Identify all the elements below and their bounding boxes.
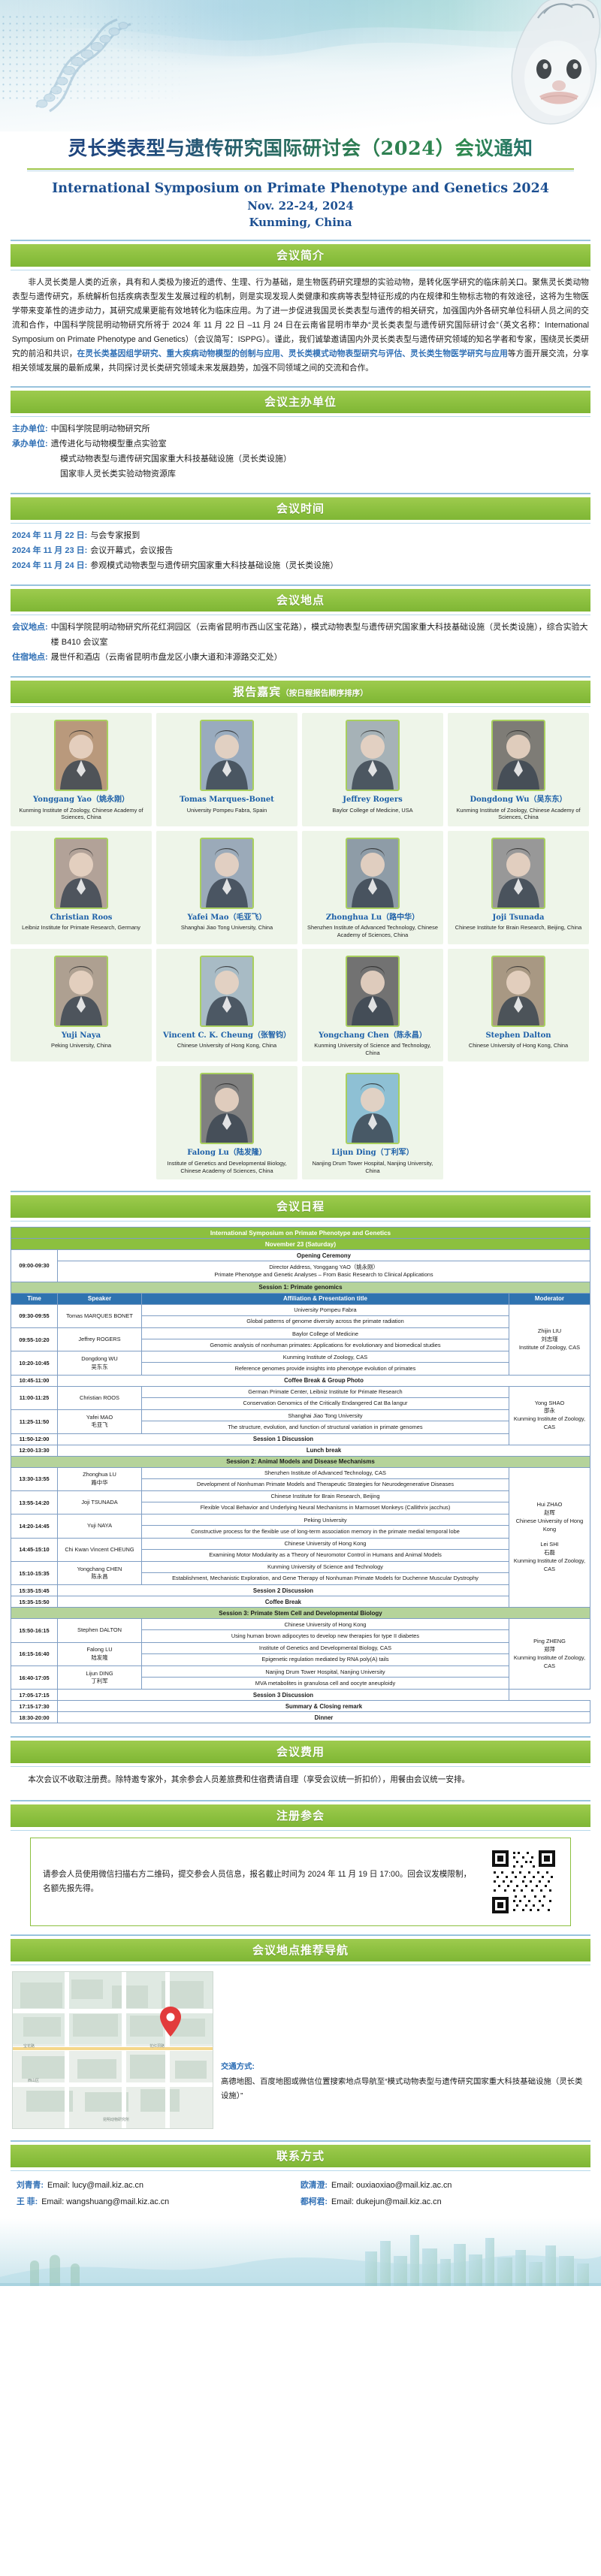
section-title-contact: 联系方式 — [11, 2145, 590, 2167]
row-speaker: Yuji NAYA — [58, 1514, 142, 1538]
venue-place-value: 中国科学院昆明动物研究所花红洞园区（云南省昆明市西山区宝花路），模式动物表型与遗… — [51, 620, 589, 650]
section-organizers-header: 会议主办单位 — [0, 386, 601, 417]
row-affiliation: Chinese University of Hong Kong — [142, 1538, 509, 1549]
speaker-photo — [54, 720, 108, 791]
conference-city: Kunming, China — [17, 215, 584, 231]
venue-hotel-row: 住宿地点: 晟世仟和酒店（云南省昆明市盘龙区小康大道和沣源路交汇处） — [12, 650, 589, 665]
traffic-label: 交通方式: — [221, 2063, 255, 2071]
agenda-break-row: 18:30-20:00 Dinner — [11, 1712, 590, 1723]
break-time: 12:00-13:30 — [11, 1445, 58, 1456]
section-title-organizers: 会议主办单位 — [11, 391, 590, 413]
row-presentation: Establishment, Mechanistic Exploration, … — [142, 1572, 509, 1584]
co-organizer-row: 承办单位: 遗传进化与动物模型重点实验室 — [12, 436, 589, 451]
speaker-name-cn: 毛亚飞 — [60, 1421, 139, 1429]
speaker-photo — [200, 838, 254, 909]
row-presentation: Global patterns of genome diversity acro… — [142, 1315, 509, 1327]
opening-detail: Director Address, Yonggang YAO（姚永刚） Prim… — [58, 1261, 590, 1282]
row-presentation: Using human brown adipocytes to develop … — [142, 1630, 509, 1642]
session2-label: Session 2: Animal Models and Disease Mec… — [11, 1456, 590, 1467]
break-label: Session 1 Discussion — [58, 1433, 509, 1445]
speaker-photo — [346, 1073, 400, 1144]
agenda-day-row: November 23 (Saturday) — [11, 1239, 590, 1250]
section-contact-header: 联系方式 — [0, 2140, 601, 2171]
row-moderator: Yong SHAO 邵永 Kunming Institute of Zoolog… — [509, 1386, 590, 1445]
speaker-name-cn: 陆发隆 — [60, 1654, 139, 1662]
venue-place-row: 会议地点: 中国科学院昆明动物研究所花红洞园区（云南省昆明市西山区宝花路），模式… — [12, 620, 589, 650]
agenda-table-wrap: International Symposium on Primate Pheno… — [0, 1222, 601, 1728]
section-fees-header: 会议费用 — [0, 1736, 601, 1767]
city-skyline-illustration — [0, 2218, 601, 2286]
section-title-map: 会议地点推荐导航 — [11, 1939, 590, 1961]
speaker-photo — [346, 956, 400, 1027]
speaker-affiliation: Kunming University of Science and Techno… — [306, 1042, 439, 1056]
venue-place-label: 会议地点: — [12, 620, 48, 635]
row-moderator: Ping ZHENG 郑萍 Kunming Institute of Zoolo… — [509, 1619, 590, 1690]
time-desc-1: 与会专家报到 — [90, 528, 589, 543]
contact-person: 刘青青: Email: lucy@mail.kiz.ac.cn — [17, 2178, 300, 2194]
row-affiliation: Peking University — [142, 1514, 509, 1526]
row-speaker: Yongchang CHEN 陈永昌 — [58, 1561, 142, 1584]
section-intro-header: 会议简介 — [0, 240, 601, 270]
contact-row: 刘青青: Email: lucy@mail.kiz.ac.cn 欧清澄: Ema… — [17, 2178, 584, 2194]
moderator-name-cn: 郑萍 — [512, 1646, 587, 1654]
row-affiliation: University Pompeu Fabra — [142, 1304, 509, 1315]
time-row: 2024 年 11 月 23 日: 会议开幕式，会议报告 — [12, 543, 589, 558]
time-date-1: 2024 年 11 月 22 日: — [12, 528, 87, 543]
agenda-break-row: 11:50-12:00 Session 1 Discussion — [11, 1433, 590, 1445]
speaker-card: Yafei Mao（毛亚飞）Shanghai Jiao Tong Univers… — [156, 831, 297, 944]
contact-row: 王 菲: Email: wangshuang@mail.kiz.ac.cn 都柯… — [17, 2194, 584, 2211]
speaker-photo — [491, 838, 545, 909]
row-affiliation: Chinese Institute for Brain Research, Be… — [142, 1490, 509, 1502]
section-map-header: 会议地点推荐导航 — [0, 1934, 601, 1965]
venue-hotel-label: 住宿地点: — [12, 650, 48, 665]
hero-banner — [0, 0, 601, 131]
co-organizer-value-1: 遗传进化与动物模型重点实验室 — [51, 436, 589, 451]
speaker-affiliation: Shanghai Jiao Tong University, China — [180, 924, 274, 932]
row-time: 09:55-10:20 — [11, 1328, 58, 1351]
conference-dates: Nov. 22-24, 2024 — [17, 198, 584, 215]
section-speakers-header: 报告嘉宾（按日程报告顺序排序） — [0, 676, 601, 707]
speaker-photo — [54, 838, 108, 909]
host-label: 主办单位: — [12, 421, 48, 436]
section-title-fees: 会议费用 — [11, 1741, 590, 1763]
intro-paragraph: 非人灵长类是人类的近亲，具有和人类极为接近的遗传、生理、行为基础，是生物医药研究… — [12, 278, 589, 358]
row-time: 15:10-15:35 — [11, 1561, 58, 1584]
agenda-break-row: 10:45-11:00 Coffee Break & Group Photo — [11, 1375, 590, 1386]
break-time: 10:45-11:00 — [11, 1375, 58, 1386]
speaker-name: Jeffrey Rogers — [343, 796, 402, 805]
contact-body: 刘青青: Email: lucy@mail.kiz.ac.cn 欧清澄: Ema… — [0, 2171, 601, 2218]
break-label: Coffee Break & Group Photo — [58, 1375, 590, 1386]
traffic-text: 高德地图、百度地图或微信位置搜索地点导航至“模式动物表型与遗传研究国家重大科技基… — [221, 2075, 589, 2104]
section-title-speakers: 报告嘉宾（按日程报告顺序排序） — [11, 681, 590, 703]
break-label: Session 3 Discussion — [58, 1690, 509, 1701]
row-time: 10:20-10:45 — [11, 1351, 58, 1375]
fees-body: 本次会议不收取注册费。除特邀专家外，其余参会人员差旅费和住宿费请自理（享受会议统… — [0, 1767, 601, 1792]
row-presentation: Constructive process for the flexible us… — [142, 1526, 509, 1538]
row-affiliation: Kunming University of Science and Techno… — [142, 1561, 509, 1572]
break-time: 18:30-20:00 — [11, 1712, 58, 1723]
moderator-affiliation: Chinese University of Hong Kong — [512, 1518, 587, 1533]
svg-text:西山区: 西山区 — [28, 2078, 39, 2083]
speaker-card: Dongdong Wu（吴东东）Kunming Institute of Zoo… — [448, 713, 589, 826]
row-presentation: Conservation Genomics of the Critically … — [142, 1397, 509, 1409]
footer-decoration — [0, 2218, 601, 2286]
time-row: 2024 年 11 月 24 日: 参观模式动物表型与遗传研究国家重大科技基础设… — [12, 558, 589, 573]
agenda-column-header: Time Speaker Affiliation & Presentation … — [11, 1293, 590, 1304]
speaker-name: Tomas Marques-Bonet — [180, 796, 274, 805]
speaker-photo — [346, 720, 400, 791]
contact-person: 欧清澄: Email: ouxiaoxiao@mail.kiz.ac.cn — [300, 2178, 584, 2194]
svg-text:宝花路: 宝花路 — [23, 2043, 35, 2049]
table-row: 13:30-13:55 Zhonghua LU 路中华 Shenzhen Ins… — [11, 1467, 590, 1478]
contact-name-2: 欧清澄: — [300, 2178, 328, 2194]
dna-helix-icon — [21, 15, 149, 114]
speaker-name: Christian Roos — [50, 914, 113, 923]
section-time-header: 会议时间 — [0, 493, 601, 524]
contact-email-3[interactable]: Email: wangshuang@mail.kiz.ac.cn — [41, 2194, 169, 2211]
speaker-card: Falong Lu（陆发隆）Institute of Genetics and … — [156, 1066, 297, 1179]
speaker-photo — [200, 956, 254, 1027]
row-speaker: Stephen DALTON — [58, 1619, 142, 1642]
speakers-title-main: 报告嘉宾 — [233, 685, 281, 699]
speaker-grid: Yonggang Yao（姚永刚）Kunming Institute of Zo… — [0, 707, 601, 1182]
row-affiliation: Institute of Genetics and Developmental … — [142, 1642, 509, 1653]
row-speaker: Joji TSUNADA — [58, 1490, 142, 1514]
moderator2-name-en: Lei SHI — [512, 1541, 587, 1549]
registration-text: 请参会人员使用微信扫描右方二维码，提交参会人员信息，报名截止时间为 2024 年… — [43, 1868, 479, 1897]
speaker-photo — [200, 1073, 254, 1144]
venue-body: 会议地点: 中国科学院昆明动物研究所花红洞园区（云南省昆明市西山区宝花路），模式… — [0, 615, 601, 668]
row-speaker: Chi Kwan Vincent CHEUNG — [58, 1538, 142, 1561]
map-navigation-note: 交通方式: 高德地图、百度地图或微信位置搜索地点导航至“模式动物表型与遗传研究国… — [221, 1971, 589, 2103]
section-title-intro: 会议简介 — [11, 244, 590, 267]
section-agenda-header: 会议日程 — [0, 1191, 601, 1222]
speaker-card: Vincent C. K. Cheung（张智钧）Chinese Univers… — [156, 949, 297, 1062]
row-time: 13:55-14:20 — [11, 1490, 58, 1514]
break-label: Session 2 Discussion — [58, 1585, 509, 1596]
speaker-name: Yuji Naya — [62, 1031, 101, 1041]
table-row: 15:10-15:35 Yongchang CHEN 陈永昌 Kunming U… — [11, 1561, 590, 1572]
row-presentation: Genomic analysis of nonhuman primates: A… — [142, 1339, 509, 1351]
svg-text:花红洞路: 花红洞路 — [149, 2043, 165, 2049]
section-title-agenda: 会议日程 — [11, 1195, 590, 1218]
moderator-name-cn: 刘志瑾 — [512, 1336, 587, 1344]
speaker-affiliation: Kunming Institute of Zoology, Chinese Ac… — [14, 807, 148, 821]
session1-label: Session 1: Primate genomics — [11, 1282, 590, 1293]
speaker-affiliation: Peking University, China — [50, 1042, 113, 1049]
opening-line-1: Director Address, Yonggang YAO（姚永刚） — [60, 1264, 587, 1272]
session3-label: Session 3: Primate Stem Cell and Develop… — [11, 1608, 590, 1619]
agenda-opening-row: 09:00-09:30 Opening Ceremony — [11, 1250, 590, 1261]
break-time: 15:35-15:50 — [11, 1596, 58, 1608]
host-value: 中国科学院昆明动物研究所 — [51, 421, 589, 436]
agenda-symposium-title: International Symposium on Primate Pheno… — [11, 1228, 590, 1239]
break-label: Summary & Closing remark — [58, 1701, 590, 1712]
host-row: 主办单位: 中国科学院昆明动物研究所 — [12, 421, 589, 436]
speaker-name-cn: 丁利军 — [60, 1678, 139, 1685]
speaker-card: Yuji NayaPeking University, China — [11, 949, 152, 1062]
break-time: 17:05-17:15 — [11, 1690, 58, 1701]
speaker-name: Zhonghua Lu（路中华） — [326, 914, 419, 923]
row-presentation: MVA metabolites in granulosa cell and oo… — [142, 1678, 509, 1690]
speaker-name: Joji Tsunada — [493, 914, 545, 923]
agenda-break-row: 17:15-17:30 Summary & Closing remark — [11, 1701, 590, 1712]
speaker-affiliation: Chinese Institute for Brain Research, Be… — [454, 924, 583, 932]
agenda-session2-row: Session 2: Animal Models and Disease Mec… — [11, 1456, 590, 1467]
speaker-card: Lijun Ding（丁利军）Nanjing Drum Tower Hospit… — [302, 1066, 443, 1179]
contact-person: 都柯君: Email: dukejun@mail.kiz.ac.cn — [300, 2194, 584, 2211]
speaker-affiliation: Nanjing Drum Tower Hospital, Nanjing Uni… — [306, 1160, 439, 1174]
speaker-name-cn: 吴东东 — [60, 1363, 139, 1371]
speaker-affiliation: Kunming Institute of Zoology, Chinese Ac… — [452, 807, 585, 821]
agenda-day-title: November 23 (Saturday) — [11, 1239, 590, 1250]
break-label: Dinner — [58, 1712, 590, 1723]
contact-name-3: 王 菲: — [17, 2194, 38, 2211]
row-time: 14:45-15:10 — [11, 1538, 58, 1561]
moderator2-name-cn: 石磊 — [512, 1549, 587, 1557]
moderator-name-en: Ping ZHENG — [512, 1638, 587, 1646]
row-affiliation: Shenzhen Institute of Advanced Technolog… — [142, 1467, 509, 1478]
contact-name-1: 刘青青: — [17, 2178, 44, 2194]
agenda-break-row: 15:35-15:45 Session 2 Discussion — [11, 1585, 590, 1596]
table-row: 11:00-11:25 Christian ROOS German Primat… — [11, 1386, 590, 1397]
speaker-name: Stephen Dalton — [485, 1031, 551, 1041]
registration-qr-code[interactable] — [489, 1847, 558, 1916]
intro-body: 非人灵长类是人类的近亲，具有和人类极为接近的遗传、生理、行为基础，是生物医药研究… — [0, 270, 601, 378]
row-speaker: Lijun DING 丁利军 — [58, 1666, 142, 1690]
col-moderator: Moderator — [509, 1293, 590, 1304]
row-time: 16:40-17:05 — [11, 1666, 58, 1690]
section-venue-header: 会议地点 — [0, 584, 601, 615]
speaker-photo — [200, 720, 254, 791]
speaker-name: Vincent C. K. Cheung（张智钧） — [163, 1031, 291, 1041]
co-organizer-value-3: 国家非人灵长类实验动物资源库 — [12, 467, 589, 482]
table-row: 11:25-11:50 Yafei MAO 毛亚飞 Shanghai Jiao … — [11, 1410, 590, 1421]
speaker-photo — [54, 956, 108, 1027]
row-moderator: Hui ZHAO 赵晖 Chinese University of Hong K… — [509, 1467, 590, 1608]
row-presentation: Reference genomes provide insights into … — [142, 1363, 509, 1375]
table-row: 09:30-09:55 Tomas MARQUES BONET Universi… — [11, 1304, 590, 1315]
contact-email-2[interactable]: Email: ouxiaoxiao@mail.kiz.ac.cn — [331, 2178, 452, 2194]
speaker-affiliation: Chinese University of Hong Kong, China — [467, 1042, 569, 1049]
moderator-name-cn: 邵永 — [512, 1407, 587, 1415]
row-presentation: Examining Motor Modularity as a Theory o… — [142, 1549, 509, 1561]
break-time: 11:50-12:00 — [11, 1433, 58, 1445]
speaker-name-en: Yafei MAO — [60, 1414, 139, 1421]
speaker-card: Stephen DaltonChinese University of Hong… — [448, 949, 589, 1062]
break-label: Coffee Break — [58, 1596, 509, 1608]
table-row: 16:15-16:40 Falong LU 陆发隆 Institute of G… — [11, 1642, 590, 1653]
speaker-card: Yonggang Yao（姚永刚）Kunming Institute of Zo… — [11, 713, 152, 826]
speaker-card: Christian RoosLeibniz Institute for Prim… — [11, 831, 152, 944]
row-time: 14:20-14:45 — [11, 1514, 58, 1538]
break-label: Lunch break — [58, 1445, 590, 1456]
venue-hotel-value: 晟世仟和酒店（云南省昆明市盘龙区小康大道和沣源路交汇处） — [51, 650, 589, 665]
row-presentation: Development of Nonhuman Primate Models a… — [142, 1478, 509, 1490]
table-row: 13:55-14:20 Joji TSUNADA Chinese Institu… — [11, 1490, 590, 1502]
time-desc-2: 会议开幕式，会议报告 — [90, 543, 589, 558]
agenda-break-row: 12:00-13:30 Lunch break — [11, 1445, 590, 1456]
speaker-affiliation: Leibniz Institute for Primate Research, … — [20, 924, 142, 932]
section-title-time: 会议时间 — [11, 497, 590, 520]
speakers-title-sub: （按日程报告顺序排序） — [281, 689, 368, 698]
speaker-name-cn: 路中华 — [60, 1479, 139, 1487]
agenda-break-row: 17:05-17:15 Session 3 Discussion — [11, 1690, 590, 1701]
golden-monkey-illustration — [448, 0, 601, 131]
moderator-name-en: Yong SHAO — [512, 1400, 587, 1408]
speaker-photo — [491, 956, 545, 1027]
opening-title: Opening Ceremony — [58, 1250, 590, 1261]
agenda-session3-row: Session 3: Primate Stem Cell and Develop… — [11, 1608, 590, 1619]
opening-time: 09:00-09:30 — [11, 1250, 58, 1282]
section-title-venue: 会议地点 — [11, 589, 590, 612]
section-title-register: 注册参会 — [11, 1804, 590, 1827]
title-block: 灵长类表型与遗传研究国际研讨会（2024）会议通知 International … — [0, 131, 601, 231]
agenda-symposium-row: International Symposium on Primate Pheno… — [11, 1228, 590, 1239]
speaker-card: Jeffrey RogersBaylor College of Medicine… — [302, 713, 443, 826]
row-time: 09:30-09:55 — [11, 1304, 58, 1327]
moderator-affiliation: Kunming Institute of Zoology, CAS — [512, 1654, 587, 1670]
title-divider — [27, 168, 574, 171]
moderator-affiliation: Kunming Institute of Zoology, CAS — [512, 1415, 587, 1431]
row-time: 15:50-16:15 — [11, 1619, 58, 1642]
row-presentation: Flexible Vocal Behavior and Underlying N… — [142, 1502, 509, 1514]
speaker-affiliation: Shenzhen Institute of Advanced Technolog… — [306, 924, 439, 938]
table-row: 14:20-14:45 Yuji NAYA Peking University — [11, 1514, 590, 1526]
row-time: 11:25-11:50 — [11, 1410, 58, 1433]
contact-email-4[interactable]: Email: dukejun@mail.kiz.ac.cn — [331, 2194, 442, 2211]
row-speaker: Christian ROOS — [58, 1386, 142, 1409]
row-moderator: Zhijin LIU 刘志瑾 Institute of Zoology, CAS — [509, 1304, 590, 1375]
fees-text: 本次会议不收取注册费。除特邀专家外，其余参会人员差旅费和住宿费请自理（享受会议统… — [12, 1773, 589, 1787]
speaker-affiliation: Baylor College of Medicine, USA — [331, 807, 414, 814]
agenda-break-row: 15:35-15:50 Coffee Break — [11, 1596, 590, 1608]
conference-poster: 灵长类表型与遗传研究国际研讨会（2024）会议通知 International … — [0, 0, 601, 2286]
speaker-affiliation: Chinese University of Hong Kong, China — [176, 1042, 278, 1049]
table-row: 16:40-17:05 Lijun DING 丁利军 Nanjing Drum … — [11, 1666, 590, 1678]
agenda-session1-row: Session 1: Primate genomics — [11, 1282, 590, 1293]
speaker-name-en: Zhonghua LU — [60, 1471, 139, 1478]
time-desc-3: 参观模式动物表型与遗传研究国家重大科技基础设施（灵长类设施） — [90, 558, 589, 573]
row-time: 16:15-16:40 — [11, 1642, 58, 1665]
speaker-name: Yongchang Chen（陈永昌） — [319, 1031, 427, 1041]
time-row: 2024 年 11 月 22 日: 与会专家报到 — [12, 528, 589, 543]
time-date-3: 2024 年 11 月 24 日: — [12, 558, 87, 573]
page-title-cn: 灵长类表型与遗传研究国际研讨会（2024）会议通知 — [17, 133, 584, 165]
agenda-opening-detail-row: Director Address, Yonggang YAO（姚永刚） Prim… — [11, 1261, 590, 1282]
speaker-name-en: Yongchang CHEN — [60, 1566, 139, 1573]
row-affiliation: Nanjing Drum Tower Hospital, Nanjing Uni… — [142, 1666, 509, 1678]
row-affiliation: Kunming Institute of Zoology, CAS — [142, 1351, 509, 1363]
row-time: 13:30-13:55 — [11, 1467, 58, 1490]
qr-code-icon — [489, 1847, 558, 1916]
speaker-card: Tomas Marques-BonetUniversity Pompeu Fab… — [156, 713, 297, 826]
table-row: 15:50-16:15 Stephen DALTON Chinese Unive… — [11, 1619, 590, 1630]
speaker-name: Falong Lu（陆发隆） — [187, 1149, 267, 1158]
speaker-card: Yongchang Chen（陈永昌）Kunming University of… — [302, 949, 443, 1062]
co-organizer-label: 承办单位: — [12, 436, 48, 451]
row-time: 11:00-11:25 — [11, 1386, 58, 1409]
row-speaker: Tomas MARQUES BONET — [58, 1304, 142, 1327]
moderator-name-en: Hui ZHAO — [512, 1501, 587, 1509]
row-affiliation: Baylor College of Medicine — [142, 1328, 509, 1339]
col-affiliation: Affiliation & Presentation title — [142, 1293, 509, 1304]
col-speaker: Speaker — [58, 1293, 142, 1304]
moderator-affiliation: Institute of Zoology, CAS — [512, 1344, 587, 1352]
co-organizer-value-2: 模式动物表型与遗传研究国家重大科技基础设施（灵长类设施） — [12, 451, 589, 467]
row-presentation: The structure, evolution, and function o… — [142, 1421, 509, 1433]
speaker-card: Zhonghua Lu（路中华）Shenzhen Institute of Ad… — [302, 831, 443, 944]
row-affiliation: Chinese University of Hong Kong — [142, 1619, 509, 1630]
speaker-name: Yonggang Yao（姚永刚） — [33, 796, 129, 805]
contact-email-1[interactable]: Email: lucy@mail.kiz.ac.cn — [47, 2178, 143, 2194]
speaker-name-en: Dongdong WU — [60, 1355, 139, 1363]
table-row: 09:55-10:20 Jeffrey ROGERS Baylor Colleg… — [11, 1328, 590, 1339]
time-date-2: 2024 年 11 月 23 日: — [12, 543, 87, 558]
section-register-header: 注册参会 — [0, 1800, 601, 1831]
row-affiliation: German Primate Center, Leibniz Institute… — [142, 1386, 509, 1397]
row-affiliation: Shanghai Jiao Tong University — [142, 1410, 509, 1421]
moderator2-affiliation: Kunming Institute of Zoology, CAS — [512, 1557, 587, 1573]
page-title-en: International Symposium on Primate Pheno… — [17, 179, 584, 198]
speaker-name: Dongdong Wu（吴东东） — [470, 796, 566, 805]
organizers-body: 主办单位: 中国科学院昆明动物研究所 承办单位: 遗传进化与动物模型重点实验室 … — [0, 417, 601, 485]
col-time: Time — [11, 1293, 58, 1304]
map-section: 宝花路花红洞路 西山区昆明动物研究所 交通方式: 高德地图、百度地图或微信位置搜… — [0, 1965, 601, 2132]
speaker-photo — [491, 720, 545, 791]
speaker-affiliation: University Pompeu Fabra, Spain — [186, 807, 268, 814]
row-speaker: Dongdong WU 吴东东 — [58, 1351, 142, 1375]
speaker-name-en: Lijun DING — [60, 1670, 139, 1678]
moderator-name-en: Zhijin LIU — [512, 1327, 587, 1336]
break-time: 15:35-15:45 — [11, 1585, 58, 1596]
speaker-affiliation: Institute of Genetics and Developmental … — [160, 1160, 294, 1174]
time-body: 2024 年 11 月 22 日: 与会专家报到 2024 年 11 月 23 … — [0, 524, 601, 576]
registration-box: 请参会人员使用微信扫描右方二维码，提交参会人员信息，报名截止时间为 2024 年… — [30, 1838, 571, 1926]
contact-person: 王 菲: Email: wangshuang@mail.kiz.ac.cn — [17, 2194, 300, 2211]
speaker-name: Lijun Ding（丁利军） — [331, 1149, 413, 1158]
table-row: 14:45-15:10 Chi Kwan Vincent CHEUNG Chin… — [11, 1538, 590, 1549]
row-speaker: Yafei MAO 毛亚飞 — [58, 1410, 142, 1433]
map-graphic: 宝花路花红洞路 西山区昆明动物研究所 — [13, 1972, 213, 2129]
table-row: 10:20-10:45 Dongdong WU 吴东东 Kunming Inst… — [11, 1351, 590, 1363]
speaker-name-en: Falong LU — [60, 1646, 139, 1653]
contact-name-4: 都柯君: — [300, 2194, 328, 2211]
break-time: 17:15-17:30 — [11, 1701, 58, 1712]
moderator-name-cn: 赵晖 — [512, 1509, 587, 1518]
speaker-card: Joji TsunadaChinese Institute for Brain … — [448, 831, 589, 944]
row-presentation: Epigenetic regulation mediated by RNA po… — [142, 1653, 509, 1665]
row-speaker: Jeffrey ROGERS — [58, 1328, 142, 1351]
venue-map[interactable]: 宝花路花红洞路 西山区昆明动物研究所 — [12, 1971, 213, 2129]
agenda-table: International Symposium on Primate Pheno… — [11, 1227, 590, 1723]
intro-highlight: 在灵长类基因组学研究、重大疾病动物模型的创制与应用、灵长类模式动物表型研究与评估… — [77, 349, 508, 358]
row-speaker: Falong LU 陆发隆 — [58, 1642, 142, 1665]
speaker-name: Yafei Mao（毛亚飞） — [187, 914, 266, 923]
speaker-name-cn: 陈永昌 — [60, 1573, 139, 1581]
svg-text:昆明动物研究所: 昆明动物研究所 — [103, 2117, 129, 2122]
row-speaker: Zhonghua LU 路中华 — [58, 1467, 142, 1490]
opening-line-2: Primate Phenotype and Genetic Analyses –… — [60, 1271, 587, 1279]
speaker-photo — [346, 838, 400, 909]
